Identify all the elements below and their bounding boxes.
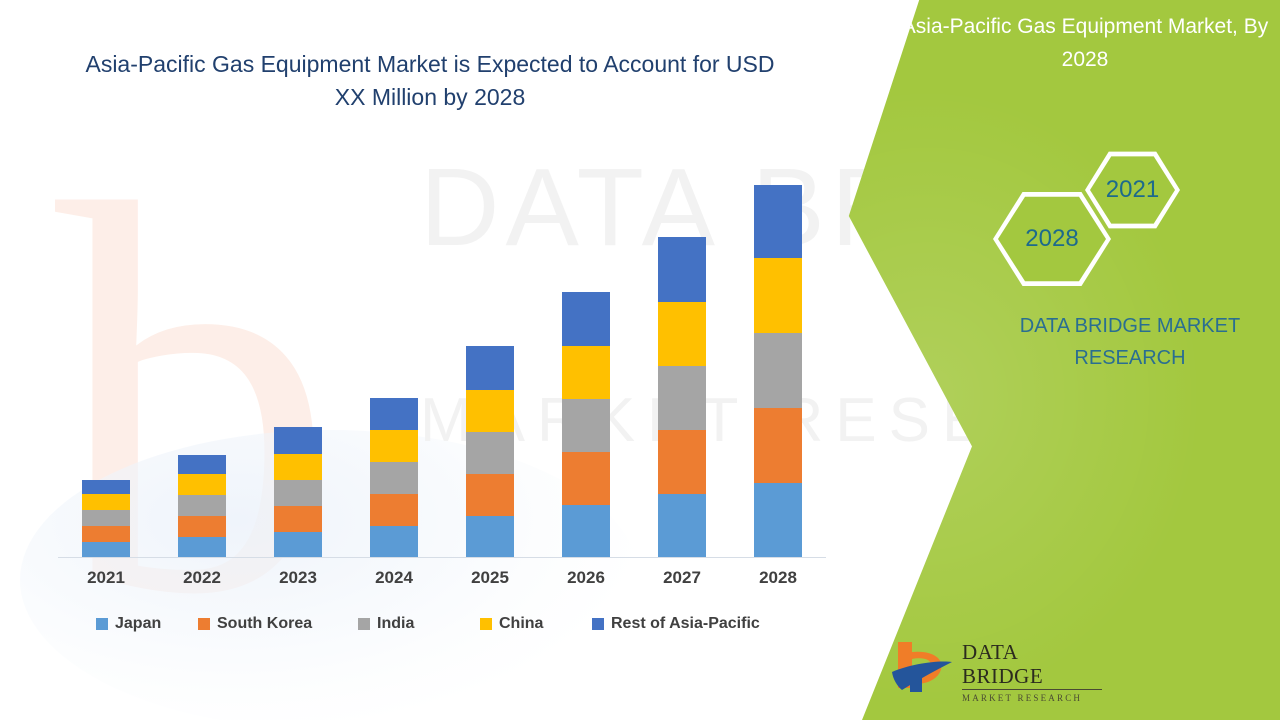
bar-segment[interactable] [370, 462, 418, 494]
bar-segment[interactable] [562, 292, 610, 346]
logo-sub-text: MARKET RESEARCH [962, 692, 1102, 704]
bar-segment[interactable] [178, 495, 226, 516]
bar-segment[interactable] [466, 516, 514, 558]
legend-label: Rest of Asia-Pacific [611, 615, 760, 633]
x-axis-label-2021: 2021 [58, 568, 154, 588]
plot-area [58, 170, 826, 558]
logo-divider [962, 689, 1102, 690]
bar-segment[interactable] [754, 408, 802, 483]
legend-label: Japan [115, 615, 161, 633]
bar-segment[interactable] [82, 526, 130, 542]
bar-segment[interactable] [274, 506, 322, 532]
bar-segment[interactable] [274, 427, 322, 454]
bar-segment[interactable] [178, 537, 226, 558]
bar-segment[interactable] [658, 494, 706, 558]
bar-segment[interactable] [658, 237, 706, 302]
bar-group-2021[interactable] [82, 480, 130, 558]
bar-segment[interactable] [754, 185, 802, 258]
logo-wordmark: DATA BRIDGE MARKET RESEARCH [962, 640, 1102, 704]
legend-swatch-icon [592, 618, 604, 630]
bar-segment[interactable] [562, 505, 610, 558]
x-axis-line [58, 557, 826, 558]
bar-segment[interactable] [466, 432, 514, 474]
brand-name-text: DATA BRIDGE MARKET RESEARCH [985, 310, 1275, 374]
logo-mark-icon [888, 636, 956, 698]
legend-item-rest-of-asia-pacific[interactable]: Rest of Asia-Pacific [592, 615, 760, 633]
logo-main-text: DATA BRIDGE [962, 640, 1102, 688]
legend-label: China [499, 615, 543, 633]
x-axis-label-2024: 2024 [346, 568, 442, 588]
bar-segment[interactable] [178, 455, 226, 474]
bar-segment[interactable] [562, 399, 610, 452]
x-axis-label-2023: 2023 [250, 568, 346, 588]
bar-group-2026[interactable] [562, 292, 610, 558]
bar-segment[interactable] [562, 346, 610, 399]
bar-segment[interactable] [466, 474, 514, 516]
bar-segment[interactable] [754, 333, 802, 408]
bar-segment[interactable] [82, 510, 130, 526]
x-axis-label-2022: 2022 [154, 568, 250, 588]
legend-swatch-icon [198, 618, 210, 630]
data-bridge-logo: DATA BRIDGE MARKET RESEARCH [888, 636, 1103, 698]
hexagon-end-year-label: 2028 [1025, 225, 1078, 253]
bar-group-2024[interactable] [370, 398, 418, 558]
bar-segment[interactable] [178, 516, 226, 537]
legend-item-south-korea[interactable]: South Korea [198, 615, 312, 633]
bar-segment[interactable] [658, 302, 706, 366]
bar-segment[interactable] [274, 480, 322, 506]
bar-segment[interactable] [370, 398, 418, 430]
bar-segment[interactable] [82, 494, 130, 510]
bar-group-2025[interactable] [466, 346, 514, 558]
x-axis-label-2028: 2028 [730, 568, 826, 588]
bar-segment[interactable] [754, 483, 802, 558]
chart-legend: JapanSouth KoreaIndiaChinaRest of Asia-P… [80, 615, 800, 643]
bar-segment[interactable] [466, 390, 514, 432]
legend-label: South Korea [217, 615, 312, 633]
legend-swatch-icon [96, 618, 108, 630]
bar-segment[interactable] [754, 258, 802, 333]
bar-segment[interactable] [370, 430, 418, 462]
legend-swatch-icon [480, 618, 492, 630]
x-axis-labels: 20212022202320242025202620272028 [58, 568, 826, 598]
x-axis-label-2025: 2025 [442, 568, 538, 588]
legend-item-india[interactable]: India [358, 615, 414, 633]
x-axis-label-2027: 2027 [634, 568, 730, 588]
bar-segment[interactable] [466, 346, 514, 390]
bar-segment[interactable] [82, 480, 130, 494]
legend-swatch-icon [358, 618, 370, 630]
legend-item-china[interactable]: China [480, 615, 543, 633]
bar-segment[interactable] [562, 452, 610, 505]
bar-segment[interactable] [370, 494, 418, 526]
bar-segment[interactable] [82, 542, 130, 558]
bar-segment[interactable] [274, 532, 322, 558]
bar-group-2023[interactable] [274, 427, 322, 558]
x-axis-label-2026: 2026 [538, 568, 634, 588]
bar-segment[interactable] [658, 366, 706, 430]
chart-panel: Asia-Pacific Gas Equipment Market is Exp… [0, 0, 860, 720]
legend-label: India [377, 615, 414, 633]
bar-group-2027[interactable] [658, 237, 706, 558]
side-panel-title: Asia-Pacific Gas Equipment Market, By 20… [900, 10, 1270, 76]
screenshot-canvas: b DATA BRIDGE MARKET RESEARCH Asia-Pacif… [0, 0, 1280, 720]
bar-group-2028[interactable] [754, 185, 802, 558]
bar-segment[interactable] [370, 526, 418, 558]
bar-segment[interactable] [658, 430, 706, 494]
chart-title: Asia-Pacific Gas Equipment Market is Exp… [70, 48, 790, 114]
bar-segment[interactable] [274, 454, 322, 480]
bar-group-2022[interactable] [178, 455, 226, 558]
hexagon-start-year-label: 2021 [1106, 176, 1159, 204]
bar-segment[interactable] [178, 474, 226, 495]
legend-item-japan[interactable]: Japan [96, 615, 161, 633]
